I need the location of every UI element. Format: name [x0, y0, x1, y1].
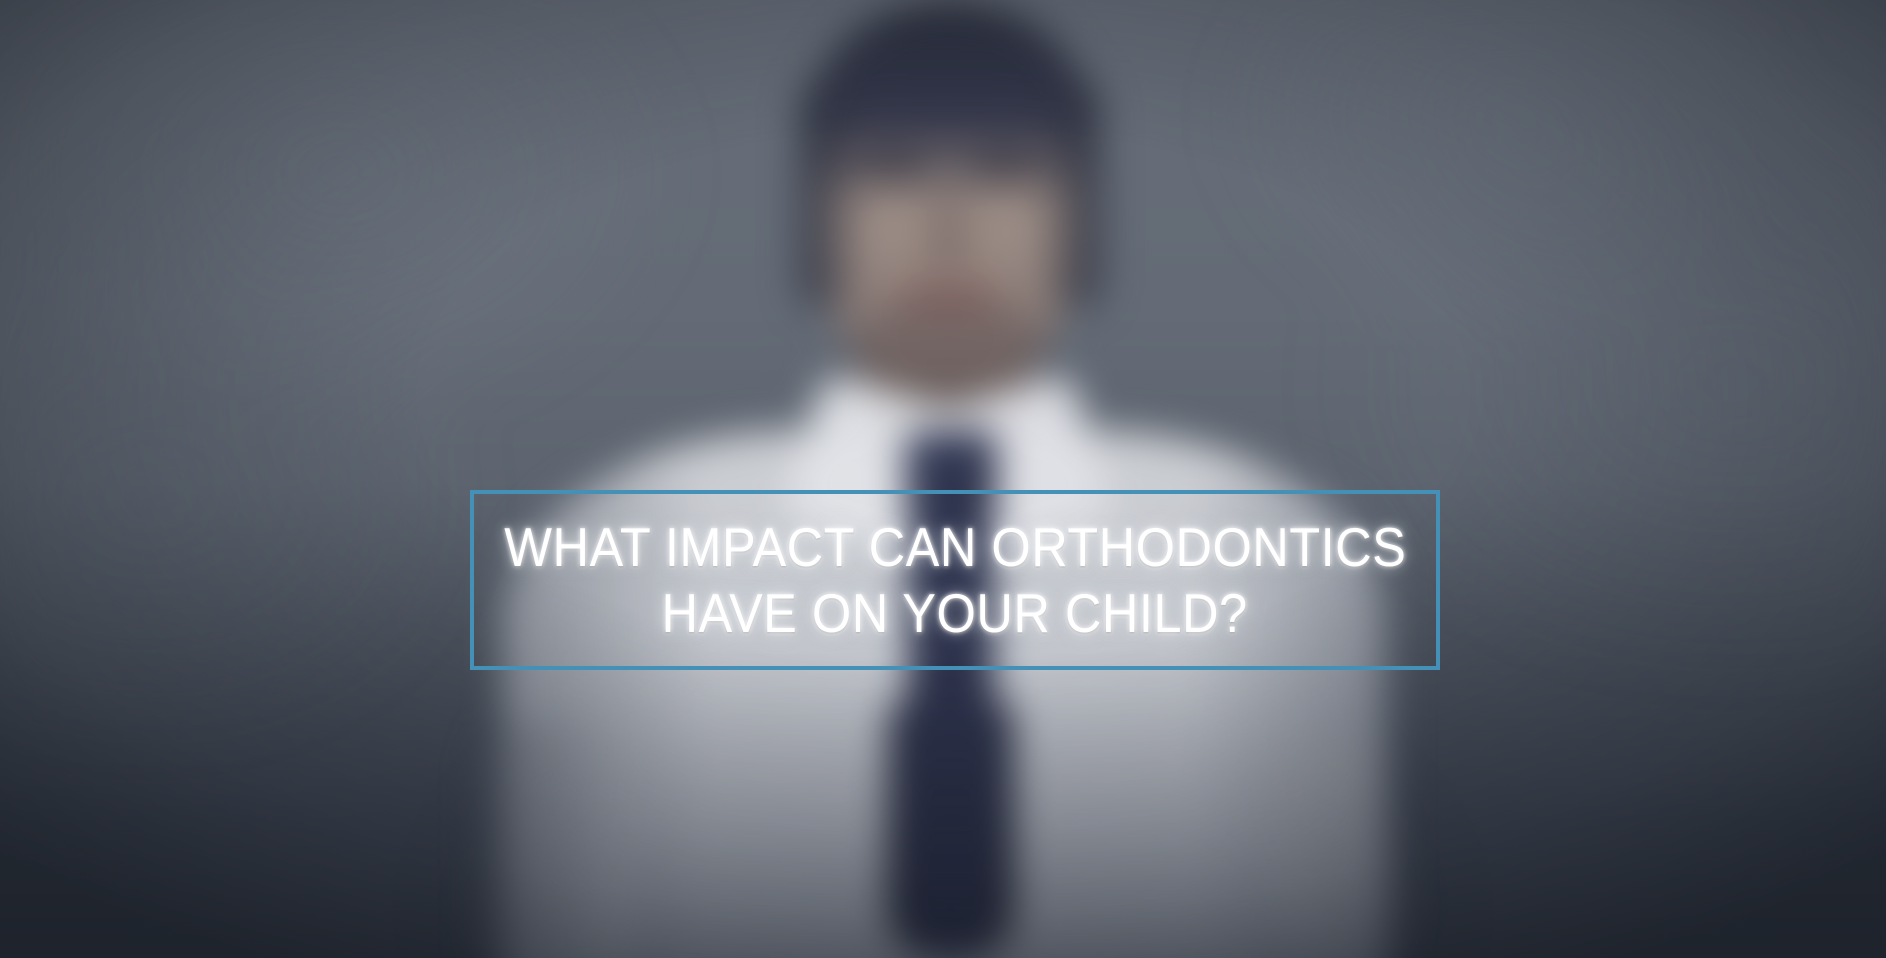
caption-title-card: WHAT IMPACT CAN ORTHODONTICS HAVE ON YOU… [470, 490, 1440, 670]
subject-arm-left [480, 720, 630, 958]
caption-line-2: HAVE ON YOUR CHILD? [662, 580, 1248, 646]
video-frame: WHAT IMPACT CAN ORTHODONTICS HAVE ON YOU… [0, 0, 1886, 958]
subject-mouth [900, 278, 996, 312]
caption-line-1: WHAT IMPACT CAN ORTHODONTICS [504, 514, 1406, 580]
subject-hair-left [800, 70, 862, 310]
subject-nose [926, 190, 970, 262]
subject-hair-right [1038, 70, 1100, 310]
blurred-subject [0, 0, 1886, 958]
subject-jaw [848, 300, 1048, 390]
